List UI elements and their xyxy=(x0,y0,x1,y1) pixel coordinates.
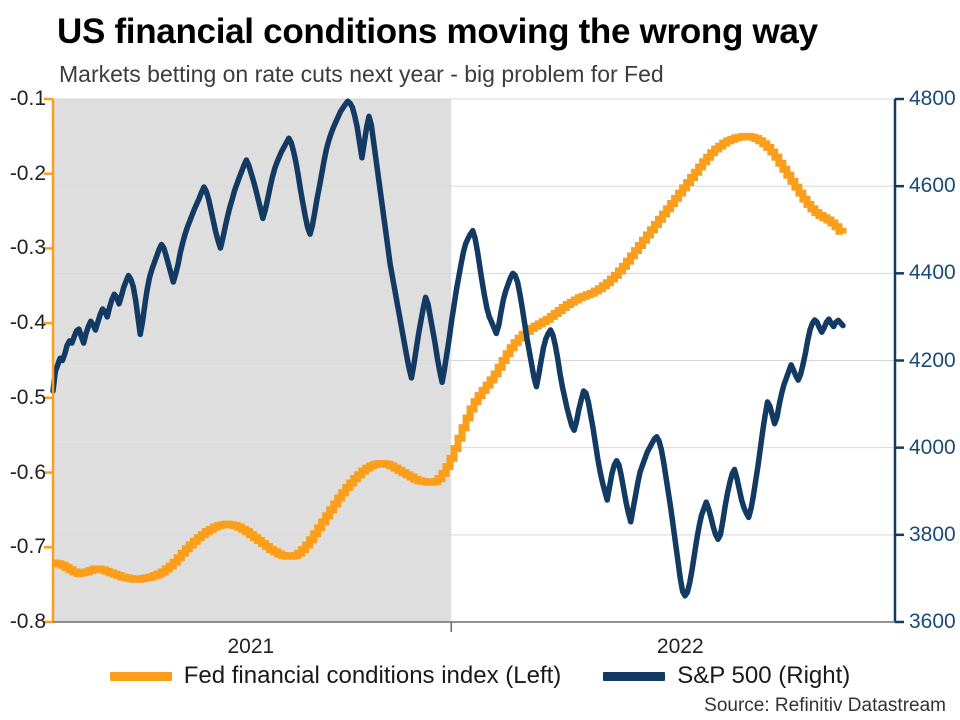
y-axis-left-tick-label: -0.2 xyxy=(0,163,46,184)
y-axis-left-tick-label: -0.3 xyxy=(0,237,46,258)
chart-page: US financial conditions moving the wrong… xyxy=(0,0,960,720)
y-axis-left-tick-label: -0.6 xyxy=(0,462,46,483)
legend-item-fed-index[interactable]: Fed financial conditions index (Left) xyxy=(110,663,562,689)
y-axis-right-tick-label: 4800 xyxy=(909,88,960,109)
legend-swatch-sp500 xyxy=(603,672,665,681)
y-axis-left-tick-label: -0.1 xyxy=(0,88,46,109)
x-axis-tick-label: 2021 xyxy=(191,636,311,657)
y-axis-right-tick-label: 4000 xyxy=(909,437,960,458)
y-axis-right-tick-label: 4600 xyxy=(909,175,960,196)
y-axis-right-tick-label: 4400 xyxy=(909,262,960,283)
chart-plot-area: -0.1-0.2-0.3-0.4-0.5-0.6-0.7-0.848004600… xyxy=(0,0,960,720)
legend-label-fed-index: Fed financial conditions index (Left) xyxy=(184,663,562,689)
y-axis-left-tick-label: -0.5 xyxy=(0,387,46,408)
x-axis-tick-label: 2022 xyxy=(620,636,740,657)
legend-swatch-fed-index xyxy=(110,672,172,681)
y-axis-right-tick-label: 3800 xyxy=(909,524,960,545)
y-axis-right-tick-label: 3600 xyxy=(909,611,960,632)
chart-svg xyxy=(0,0,960,720)
y-axis-left-tick-label: -0.8 xyxy=(0,611,46,632)
y-axis-left-tick-label: -0.4 xyxy=(0,312,46,333)
source-attribution: Source: Refinitiv Datastream xyxy=(704,695,946,716)
legend-item-sp500[interactable]: S&P 500 (Right) xyxy=(603,663,850,689)
y-axis-right-tick-label: 4200 xyxy=(909,350,960,371)
y-axis-left-tick-label: -0.7 xyxy=(0,536,46,557)
legend-label-sp500: S&P 500 (Right) xyxy=(677,663,850,689)
chart-legend: Fed financial conditions index (Left) S&… xyxy=(0,656,960,696)
